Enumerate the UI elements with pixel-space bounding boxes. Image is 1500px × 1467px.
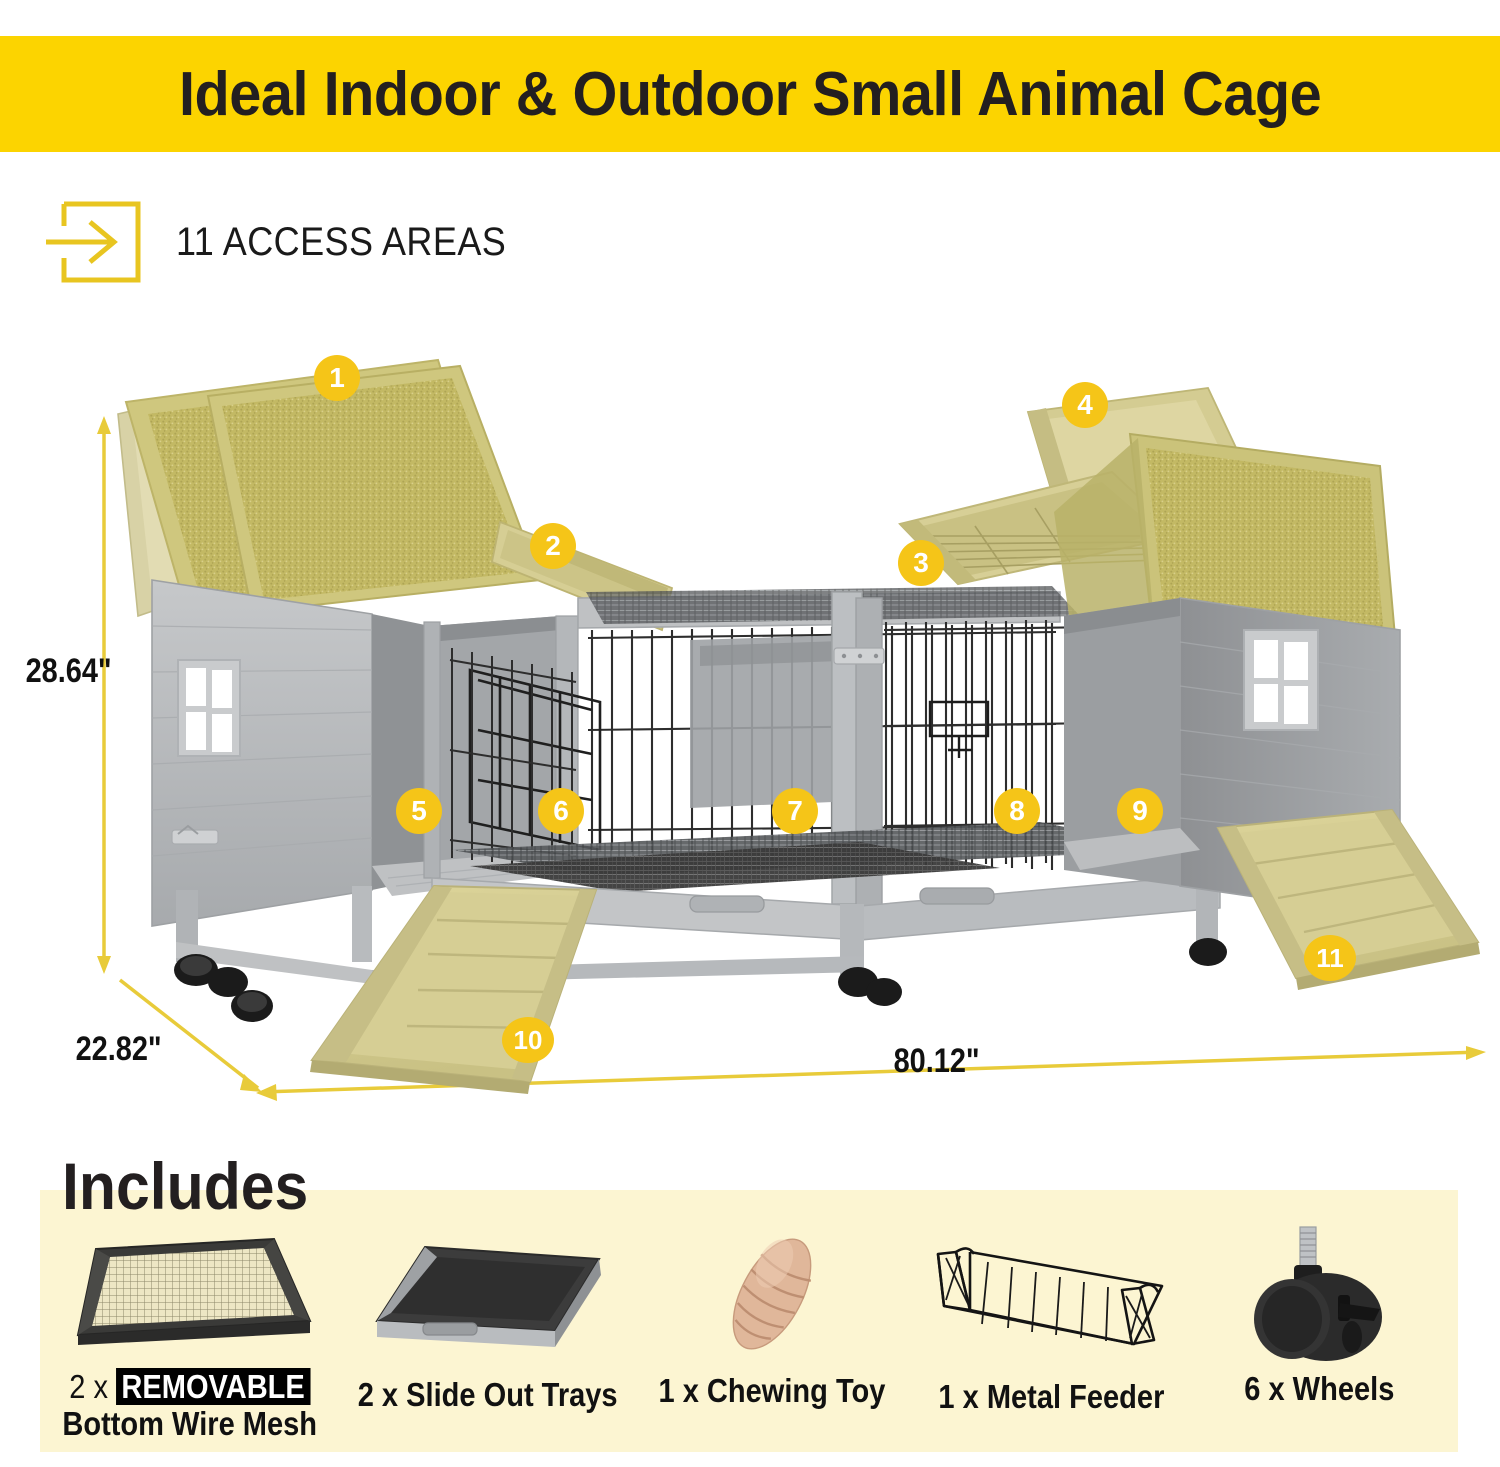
include-item-wire-mesh: 2 x REMOVABLE Bottom Wire Mesh bbox=[40, 1215, 340, 1443]
callout-badge-4[interactable]: 4 bbox=[1062, 382, 1108, 428]
callout-badge-6[interactable]: 6 bbox=[538, 788, 584, 834]
include-badge-removable: REMOVABLE bbox=[116, 1368, 310, 1405]
dimension-height: 28.64" bbox=[26, 652, 112, 691]
callout-badge-9[interactable]: 9 bbox=[1117, 788, 1163, 834]
callout-badge-10[interactable]: 10 bbox=[502, 1017, 554, 1063]
product-illustration: 28.64" 22.82" 80.12" bbox=[0, 330, 1500, 1130]
include-item-chew-toy: 1 x Chewing Toy bbox=[636, 1215, 908, 1410]
callout-badge-2[interactable]: 2 bbox=[530, 523, 576, 569]
include-item-metal-feeder: 1 x Metal Feeder bbox=[908, 1215, 1194, 1416]
include-caption-wheels: 6 x Wheels bbox=[1244, 1371, 1394, 1408]
include-item-slide-tray: 2 x Slide Out Trays bbox=[340, 1215, 636, 1414]
metal-feeder-icon bbox=[926, 1225, 1176, 1375]
include-item-wheels: 6 x Wheels bbox=[1194, 1215, 1444, 1408]
callout-badge-11[interactable]: 11 bbox=[1304, 935, 1356, 981]
include-caption-wire-mesh: 2 x REMOVABLE Bottom Wire Mesh bbox=[63, 1369, 318, 1443]
include-caption-chew-toy: 1 x Chewing Toy bbox=[659, 1373, 886, 1410]
callout-badge-8[interactable]: 8 bbox=[994, 788, 1040, 834]
include-label-wire-mesh: Bottom Wire Mesh bbox=[63, 1405, 318, 1442]
header-banner: Ideal Indoor & Outdoor Small Animal Cage bbox=[0, 36, 1500, 152]
chewing-toy-icon bbox=[672, 1219, 872, 1369]
callout-badge-7[interactable]: 7 bbox=[772, 788, 818, 834]
page-title: Ideal Indoor & Outdoor Small Animal Cage bbox=[179, 59, 1321, 130]
dimension-width: 80.12" bbox=[894, 1042, 980, 1081]
caster-wheel-icon bbox=[1234, 1217, 1404, 1367]
feature-access-areas: 11 ACCESS AREAS bbox=[46, 196, 543, 288]
dimension-depth: 22.82" bbox=[76, 1030, 162, 1069]
enter-arrow-square-icon bbox=[46, 196, 148, 288]
include-caption-metal-feeder: 1 x Metal Feeder bbox=[938, 1379, 1164, 1416]
callout-badge-5[interactable]: 5 bbox=[396, 788, 442, 834]
callout-badge-1[interactable]: 1 bbox=[314, 355, 360, 401]
wire-mesh-tray-icon bbox=[60, 1215, 320, 1365]
includes-heading: Includes bbox=[62, 1148, 308, 1224]
includes-items-row: 2 x REMOVABLE Bottom Wire Mesh 2 x Slide… bbox=[40, 1215, 1458, 1465]
feature-label: 11 ACCESS AREAS bbox=[176, 220, 506, 265]
callout-badge-3[interactable]: 3 bbox=[898, 540, 944, 586]
include-caption-slide-tray: 2 x Slide Out Trays bbox=[358, 1377, 618, 1414]
include-qty-wire-mesh: 2 x bbox=[70, 1368, 109, 1405]
slide-out-tray-icon bbox=[363, 1223, 613, 1373]
